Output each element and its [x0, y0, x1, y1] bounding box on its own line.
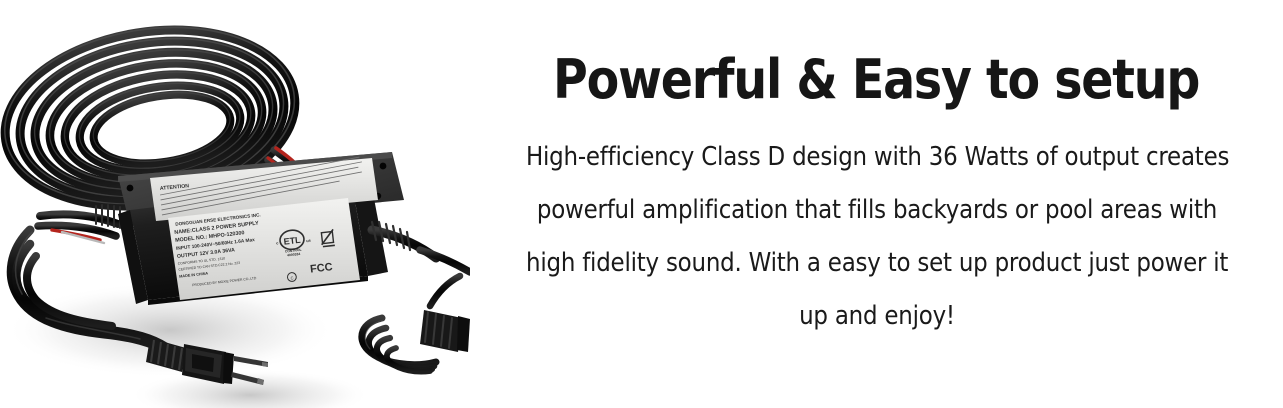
copy-block: Powerful & Easy to setup High-efficiency…: [470, 0, 1283, 408]
body-copy-line: powerful amplification that fills backya…: [526, 184, 1228, 237]
svg-text:FCC: FCC: [309, 261, 333, 275]
fcc-mark: FCC: [309, 261, 333, 275]
product-photo: ATTENTION DONGGUAN ERSE ELECTRONICS INC.: [0, 0, 470, 408]
page-title: Powerful & Easy to setup: [553, 52, 1199, 107]
power-supply-illustration: ATTENTION DONGGUAN ERSE ELECTRONICS INC.: [0, 0, 470, 408]
body-copy-line: High-efficiency Class D design with 36 W…: [526, 131, 1228, 184]
svg-text:ETL: ETL: [283, 235, 302, 247]
body-copy: High-efficiency Class D design with 36 W…: [487, 131, 1267, 343]
body-copy-line: high fidelity sound. With a easy to set …: [526, 237, 1228, 290]
product-feature-banner: ATTENTION DONGGUAN ERSE ELECTRONICS INC.: [0, 0, 1283, 408]
body-copy-line: up and enjoy!: [526, 290, 1228, 343]
